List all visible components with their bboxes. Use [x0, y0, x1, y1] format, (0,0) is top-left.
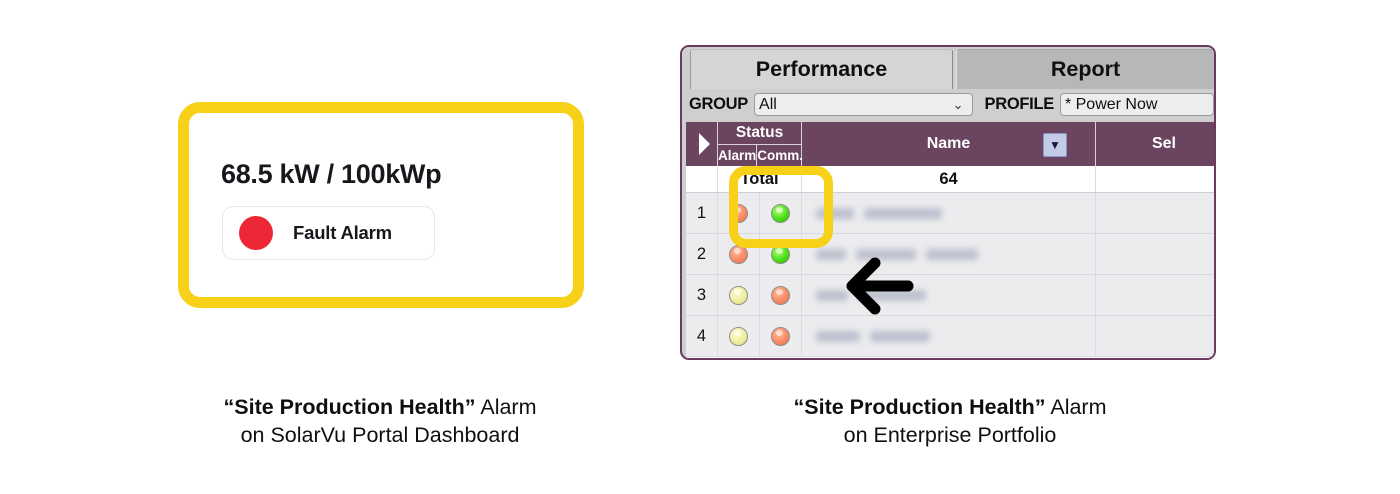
filter-bar: GROUP All ⌄ PROFILE * Power Now: [682, 89, 1214, 120]
site-name-redacted: [816, 331, 930, 342]
site-name-cell[interactable]: [802, 316, 1096, 356]
total-row-sel: [1096, 166, 1214, 192]
portfolio-table: Status Alarm Comm. Name ▼ Sel Total 64: [686, 122, 1214, 358]
column-header-index[interactable]: [686, 122, 718, 166]
comm-status-cell[interactable]: [760, 234, 802, 274]
profile-select-value: * Power Now: [1065, 96, 1157, 114]
fault-alarm-led-icon: [239, 216, 273, 250]
total-row-status-label: Total: [718, 166, 802, 192]
column-header-name-label: Name: [927, 135, 971, 153]
row-index: 2: [686, 234, 718, 274]
pointer-arrow-icon: [842, 255, 914, 317]
row-index: 3: [686, 275, 718, 315]
alarm-status-cell[interactable]: [718, 316, 760, 356]
chevron-down-icon[interactable]: ▼: [1043, 133, 1067, 157]
sel-cell[interactable]: [1096, 234, 1214, 274]
alarm-status-cell[interactable]: [718, 275, 760, 315]
comm-status-cell[interactable]: [760, 193, 802, 233]
comm-led-icon: [771, 327, 790, 346]
caption-right-rest: Alarm: [1046, 395, 1107, 419]
alarm-led-icon: [729, 204, 748, 223]
table-row[interactable]: 1: [686, 193, 1214, 234]
group-select-value: All: [759, 96, 777, 114]
group-select[interactable]: All ⌄: [754, 93, 973, 116]
caption-right-line2: on Enterprise Portfolio: [700, 421, 1200, 449]
table-header-row: Status Alarm Comm. Name ▼ Sel: [686, 122, 1214, 166]
alarm-status-cell[interactable]: [718, 193, 760, 233]
caption-right-quoted: “Site Production Health”: [794, 395, 1046, 419]
sel-cell[interactable]: [1096, 193, 1214, 233]
column-header-name[interactable]: Name ▼: [802, 122, 1096, 166]
comm-led-icon: [771, 204, 790, 223]
alarm-led-icon: [729, 327, 748, 346]
caption-left-quoted: “Site Production Health”: [224, 395, 476, 419]
caption-left-line2: on SolarVu Portal Dashboard: [130, 421, 630, 449]
row-index: 1: [686, 193, 718, 233]
portfolio-panel: Performance Report GROUP All ⌄ PROFILE *…: [680, 45, 1216, 360]
comm-led-icon: [771, 245, 790, 264]
power-readout-text: 68.5 kW / 100kWp: [221, 159, 441, 190]
alarm-led-icon: [729, 286, 748, 305]
site-name-redacted: [816, 208, 942, 219]
column-header-status-label: Status: [718, 122, 801, 145]
profile-label: PROFILE: [985, 95, 1054, 114]
caption-left: “Site Production Health” Alarm on SolarV…: [130, 393, 630, 450]
table-row[interactable]: 4: [686, 316, 1214, 357]
group-label: GROUP: [689, 95, 748, 114]
table-row-total: Total 64: [686, 166, 1214, 193]
fault-alarm-button[interactable]: Fault Alarm: [222, 206, 435, 260]
tab-report-label: Report: [1051, 57, 1120, 82]
caption-right: “Site Production Health” Alarm on Enterp…: [700, 393, 1200, 450]
site-production-health-card: 68.5 kW / 100kWp Fault Alarm: [189, 113, 573, 297]
table-body: 1234: [686, 193, 1214, 357]
profile-select[interactable]: * Power Now: [1060, 93, 1214, 116]
column-header-status-subrow: Alarm Comm.: [718, 145, 801, 166]
sort-arrow-icon: [699, 133, 710, 155]
alarm-led-icon: [729, 245, 748, 264]
tab-strip: Performance Report: [682, 47, 1214, 89]
site-name-cell[interactable]: [802, 193, 1096, 233]
alarm-status-cell[interactable]: [718, 234, 760, 274]
total-row-name-value: 64: [802, 166, 1096, 192]
caption-left-line1: “Site Production Health” Alarm: [130, 393, 630, 421]
column-header-status: Status Alarm Comm.: [718, 122, 802, 166]
sel-cell[interactable]: [1096, 316, 1214, 356]
column-header-sel[interactable]: Sel: [1096, 122, 1214, 166]
total-row-index: [686, 166, 718, 192]
table-row[interactable]: 3: [686, 275, 1214, 316]
dashboard-card-highlight-box: 68.5 kW / 100kWp Fault Alarm: [178, 102, 584, 308]
chevron-down-icon: ⌄: [953, 98, 964, 111]
comm-status-cell[interactable]: [760, 316, 802, 356]
sel-cell[interactable]: [1096, 275, 1214, 315]
caption-right-line1: “Site Production Health” Alarm: [700, 393, 1200, 421]
fault-alarm-label: Fault Alarm: [293, 222, 392, 244]
tab-report[interactable]: Report: [956, 49, 1215, 89]
comm-led-icon: [771, 286, 790, 305]
row-index: 4: [686, 316, 718, 356]
tab-performance[interactable]: Performance: [690, 49, 953, 89]
column-header-alarm[interactable]: Alarm: [718, 145, 757, 166]
table-row[interactable]: 2: [686, 234, 1214, 275]
comm-status-cell[interactable]: [760, 275, 802, 315]
caption-left-rest: Alarm: [476, 395, 537, 419]
tab-performance-label: Performance: [756, 57, 887, 82]
column-header-comm[interactable]: Comm.: [757, 145, 803, 166]
